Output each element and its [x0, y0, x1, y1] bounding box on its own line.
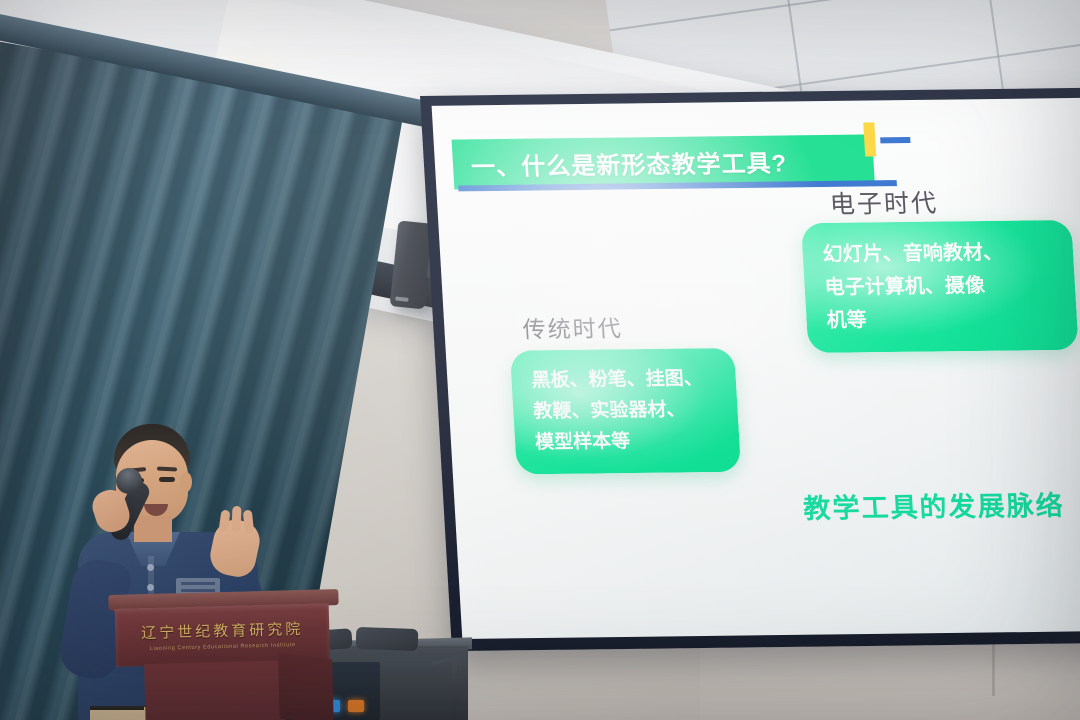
box-line: 机等 — [826, 302, 1058, 338]
lectern-side — [278, 652, 334, 720]
slide: 一、什么是新形态教学工具? 传统时代 黑板、粉笔、挂图、 教鞭、实验器材、 模型… — [432, 98, 1080, 639]
box-line: 模型样本等 — [534, 426, 720, 459]
box-line: 电子计算机、摄像 — [824, 269, 1056, 305]
presenter-eye — [159, 477, 175, 482]
presenter-finger — [232, 506, 242, 532]
desk-clutter — [356, 627, 419, 651]
screen-frame: 一、什么是新形态教学工具? 传统时代 黑板、粉笔、挂图、 教鞭、实验器材、 模型… — [420, 88, 1080, 651]
speaker-brand-mark — [395, 296, 408, 301]
polo-button — [147, 584, 154, 591]
box-line: 黑板、粉笔、挂图、 — [531, 364, 717, 397]
box-electronic-era: 幻灯片、音响教材、 电子计算机、摄像 机等 — [801, 220, 1079, 353]
box-line: 教鞭、实验器材、 — [533, 395, 719, 428]
accent-blue-dash — [880, 137, 910, 143]
box-traditional-era: 黑板、粉笔、挂图、 教鞭、实验器材、 模型样本等 — [510, 348, 741, 475]
heading-traditional-era: 传统时代 — [522, 309, 624, 344]
institute-name-cn: 辽宁世纪教育研究院 — [141, 618, 304, 643]
box-line: 幻灯片、音响教材、 — [822, 236, 1054, 272]
institute-name-en: Liaoning Century Educational Research In… — [150, 642, 296, 652]
presenter-neck — [134, 516, 172, 542]
presentation-photo: 一、什么是新形态教学工具? 传统时代 黑板、粉笔、挂图、 教鞭、实验器材、 模型… — [0, 0, 1080, 720]
polo-button — [147, 564, 154, 571]
heading-electronic-era: 电子时代 — [829, 184, 939, 221]
presenter-finger — [243, 510, 254, 535]
projection-screen: 一、什么是新形态教学工具? 传统时代 黑板、粉笔、挂图、 教鞭、实验器材、 模型… — [420, 88, 1080, 651]
lectern: 辽宁世纪教育研究院 Liaoning Century Educational R… — [108, 589, 341, 720]
led-indicator — [348, 700, 364, 712]
mic-stand — [452, 660, 457, 720]
slide-footer-caption: 教学工具的发展脉络 — [802, 484, 1065, 526]
accent-yellow-bar — [863, 122, 876, 156]
lectern-body — [144, 660, 286, 720]
presenter-ear — [180, 472, 192, 492]
slide-title: 一、什么是新形态教学工具? — [452, 143, 788, 182]
screen-surface: 一、什么是新形态教学工具? 传统时代 黑板、粉笔、挂图、 教鞭、实验器材、 模型… — [432, 98, 1080, 639]
